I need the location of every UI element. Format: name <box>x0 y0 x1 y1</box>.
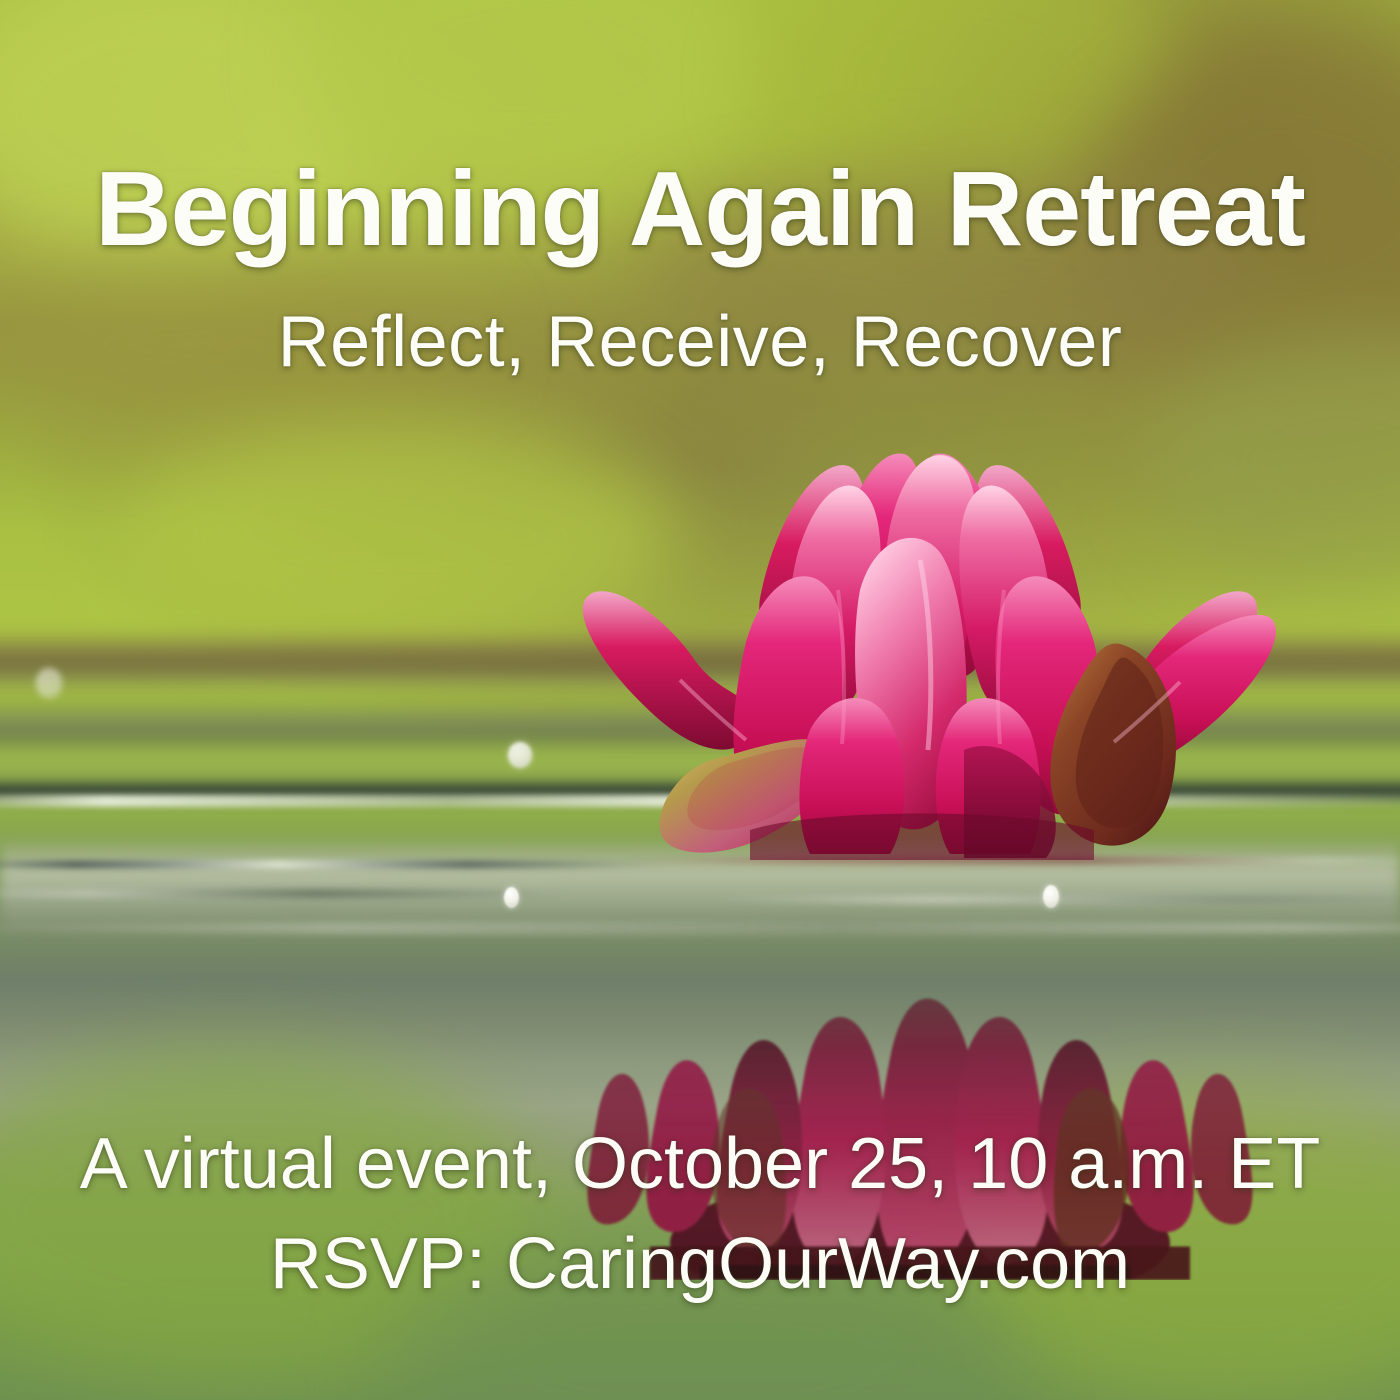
page-title: Beginning Again Retreat <box>95 156 1305 262</box>
event-details-text: A virtual event, October 25, 10 a.m. ET <box>80 1128 1321 1200</box>
page-subtitle: Reflect, Receive, Recover <box>278 306 1123 378</box>
water-droplet-left <box>504 887 519 908</box>
event-poster: Beginning Again Retreat Reflect, Receive… <box>0 0 1400 1400</box>
rsvp-text: RSVP: CaringOurWay.com <box>270 1228 1130 1300</box>
ripple-line-3 <box>0 889 574 898</box>
bokeh-dot-mid <box>508 742 532 768</box>
water-lily-reflection <box>560 880 1280 1280</box>
ripple-line-1 <box>0 861 672 868</box>
bokeh-dot-left <box>36 668 62 698</box>
water-lily-flower <box>560 430 1280 860</box>
